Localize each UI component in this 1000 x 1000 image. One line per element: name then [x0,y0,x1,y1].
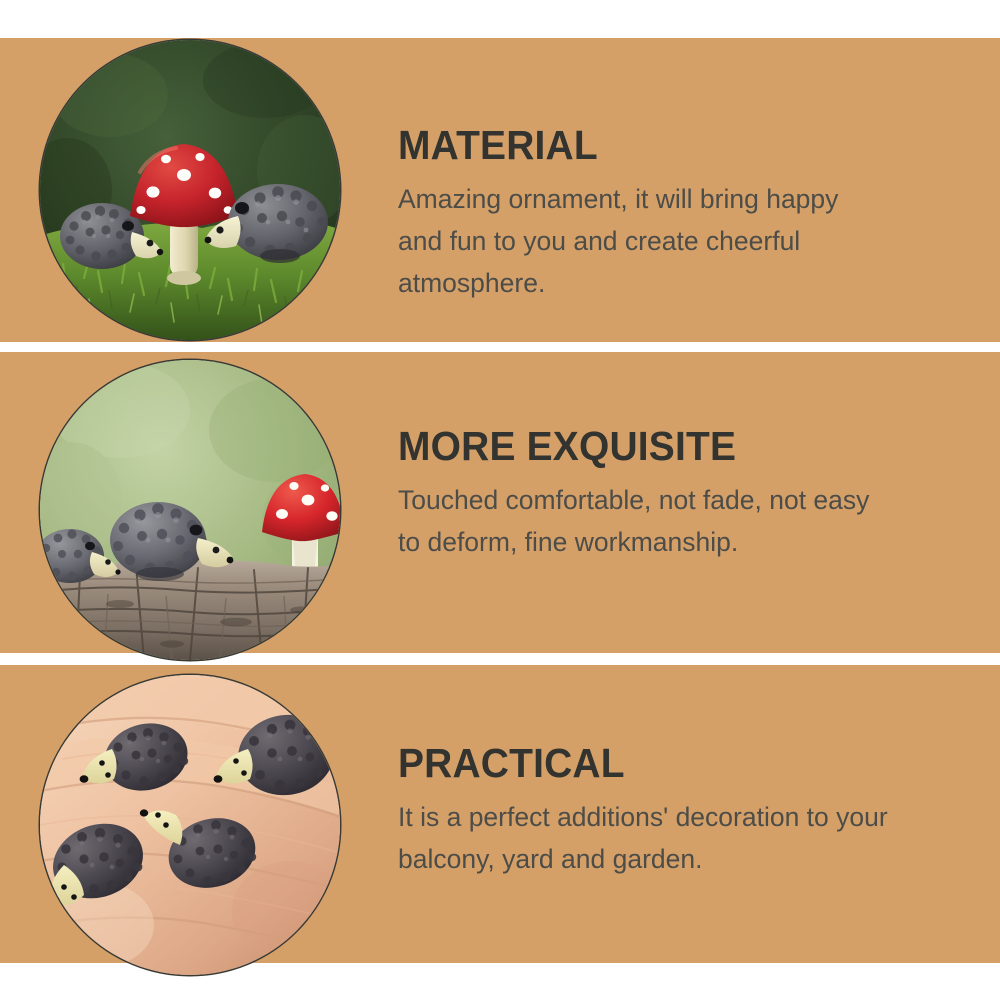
feature-text-more-exquisite: MORE EXQUISITE Touched comfortable, not … [398,423,958,563]
product-feature-infographic: MATERIAL Amazing ornament, it will bring… [0,0,1000,1000]
feature-description: Amazing ornament, it will bring happy an… [398,178,873,304]
feature-title: PRACTICAL [398,740,930,786]
feature-title: MATERIAL [398,122,930,168]
feature-text-material: MATERIAL Amazing ornament, it will bring… [398,122,958,304]
feature-text-practical: PRACTICAL It is a perfect additions' dec… [398,740,958,880]
hedgehogs-in-palm-photo [40,675,340,975]
feature-description: Touched comfortable, not fade, not easy … [398,479,873,563]
hedgehogs-on-bark-log-photo [40,360,340,660]
feature-description: It is a perfect additions' decoration to… [398,796,898,880]
hedgehogs-and-mushroom-on-moss-photo [40,40,340,340]
feature-title: MORE EXQUISITE [398,423,930,469]
